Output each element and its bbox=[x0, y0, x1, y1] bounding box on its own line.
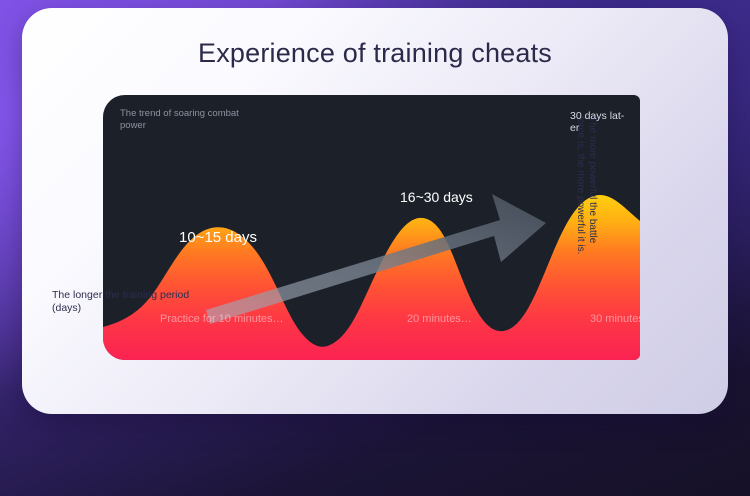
presentation-card: Experience of training cheats bbox=[22, 8, 728, 414]
page-title: Experience of training cheats bbox=[22, 38, 728, 69]
y-axis-label: The more powerful the battle force is, t… bbox=[574, 116, 598, 306]
wave-area-path bbox=[103, 195, 640, 360]
screenshot-root: Experience of training cheats bbox=[0, 0, 750, 496]
y-axis-label-wrapper: The more powerful the battle force is, t… bbox=[574, 116, 598, 306]
annotation-baseline-3: 30 minutes… bbox=[590, 313, 640, 325]
x-axis-label: The longer the training period (days) bbox=[52, 289, 272, 315]
chart-panel: The trend of soaring combat power 30 day… bbox=[103, 95, 640, 360]
annotation-baseline-1: Practice for 10 minutes… bbox=[160, 313, 284, 325]
annotation-baseline-2: 20 minutes… bbox=[407, 313, 472, 325]
